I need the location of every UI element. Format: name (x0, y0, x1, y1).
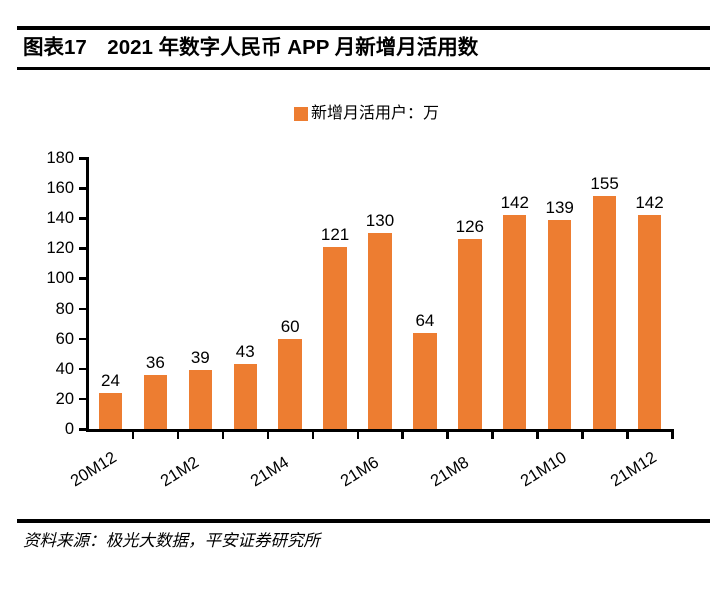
bar (189, 370, 212, 429)
bar-value-label: 39 (178, 349, 223, 366)
y-axis-tick-label: 160 (18, 180, 74, 197)
x-axis-tick-label: 21M10 (518, 449, 570, 490)
bar-value-label: 64 (402, 312, 447, 329)
x-axis-tick-label: 21M8 (428, 454, 472, 490)
x-axis-tick (222, 431, 225, 439)
bar-value-label: 60 (268, 318, 313, 335)
x-axis-tick (357, 431, 360, 439)
x-axis-tick (312, 431, 315, 439)
y-axis-tick-label: 80 (18, 301, 74, 318)
x-axis-tick-label: 21M2 (158, 454, 202, 490)
x-axis-tick (581, 431, 584, 439)
x-axis-tick (177, 431, 180, 439)
bar-value-label: 121 (313, 226, 358, 243)
y-axis-tick-label: 20 (18, 391, 74, 408)
plot-area (88, 158, 672, 429)
bar-value-label: 36 (133, 354, 178, 371)
bar (593, 196, 616, 429)
x-axis-tick (401, 431, 404, 439)
bar-value-label: 142 (627, 194, 672, 211)
bar (638, 215, 661, 429)
x-axis-tick (626, 431, 629, 439)
x-axis-tick (132, 431, 135, 439)
y-axis-tick-label: 120 (18, 240, 74, 257)
bar (548, 220, 571, 429)
bar (99, 393, 122, 429)
bar (144, 375, 167, 429)
x-axis-tick (446, 431, 449, 439)
y-axis-tick (79, 217, 87, 220)
chart-canvas: 020406080100120140160180 243639436012113… (0, 0, 727, 603)
y-axis-tick (79, 157, 87, 160)
y-axis-tick (79, 398, 87, 401)
bar-value-label: 142 (492, 194, 537, 211)
bar (323, 247, 346, 429)
y-axis-tick-label: 100 (18, 270, 74, 287)
x-axis-tick-label: 20M12 (68, 449, 120, 490)
y-axis-tick (79, 338, 87, 341)
bar (278, 339, 301, 429)
y-axis-tick (79, 187, 87, 190)
bar-value-label: 126 (447, 218, 492, 235)
y-axis-tick (79, 308, 87, 311)
y-axis-labels: 020406080100120140160180 (16, 0, 74, 603)
figure-footer-block: 资料来源：极光大数据，平安证券研究所 (17, 519, 710, 552)
y-axis-tick (79, 368, 87, 371)
y-axis-tick-label: 140 (18, 210, 74, 227)
bar (234, 364, 257, 429)
bar-value-label: 43 (223, 343, 268, 360)
y-axis-tick (79, 428, 87, 431)
y-axis-tick (79, 247, 87, 250)
y-axis-tick-label: 40 (18, 361, 74, 378)
x-axis-tick (671, 431, 674, 439)
y-axis-tick-label: 60 (18, 331, 74, 348)
bar (503, 215, 526, 429)
x-axis-tick-label: 21M12 (608, 449, 660, 490)
x-axis-tick-label: 21M6 (338, 454, 382, 490)
x-axis-tick (536, 431, 539, 439)
bar (368, 233, 391, 429)
y-axis-tick-label: 180 (18, 150, 74, 167)
source-note: 资料来源：极光大数据，平安证券研究所 (17, 523, 710, 552)
x-axis-tick-label: 21M4 (248, 454, 292, 490)
bar-value-label: 155 (582, 175, 627, 192)
x-axis-tick (267, 431, 270, 439)
bar-value-label: 139 (537, 199, 582, 216)
bar (413, 333, 436, 429)
bar-value-label: 130 (358, 212, 403, 229)
y-axis-tick (79, 277, 87, 280)
bar-value-label: 24 (88, 372, 133, 389)
x-axis-line (86, 429, 674, 432)
y-axis-tick-label: 0 (18, 421, 74, 438)
bar (458, 239, 481, 429)
x-axis-tick (491, 431, 494, 439)
